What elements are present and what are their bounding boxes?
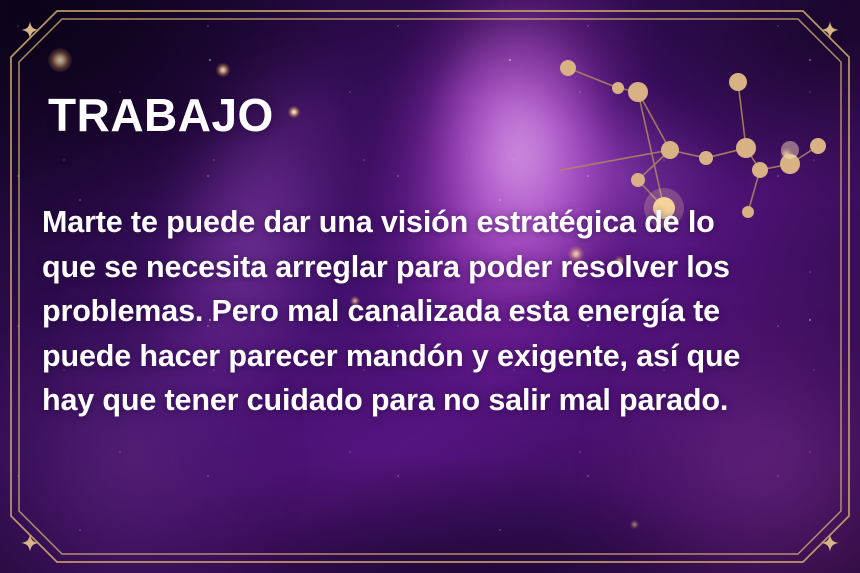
body-line: problemas. Pero mal canalizada esta ener… — [42, 289, 832, 334]
body-text: Marte te puede dar una visión estratégic… — [42, 200, 832, 423]
horoscope-card: TRABAJO Marte te puede dar una visión es… — [0, 0, 860, 573]
card-content: TRABAJO Marte te puede dar una visión es… — [0, 0, 860, 573]
page-title: TRABAJO — [48, 92, 274, 138]
body-line: puede hacer parecer mandón y exigente, a… — [42, 334, 832, 379]
body-line: hay que tener cuidado para no salir mal … — [42, 378, 832, 423]
body-line: que se necesita arreglar para poder reso… — [42, 245, 832, 290]
body-line: Marte te puede dar una visión estratégic… — [42, 200, 832, 245]
